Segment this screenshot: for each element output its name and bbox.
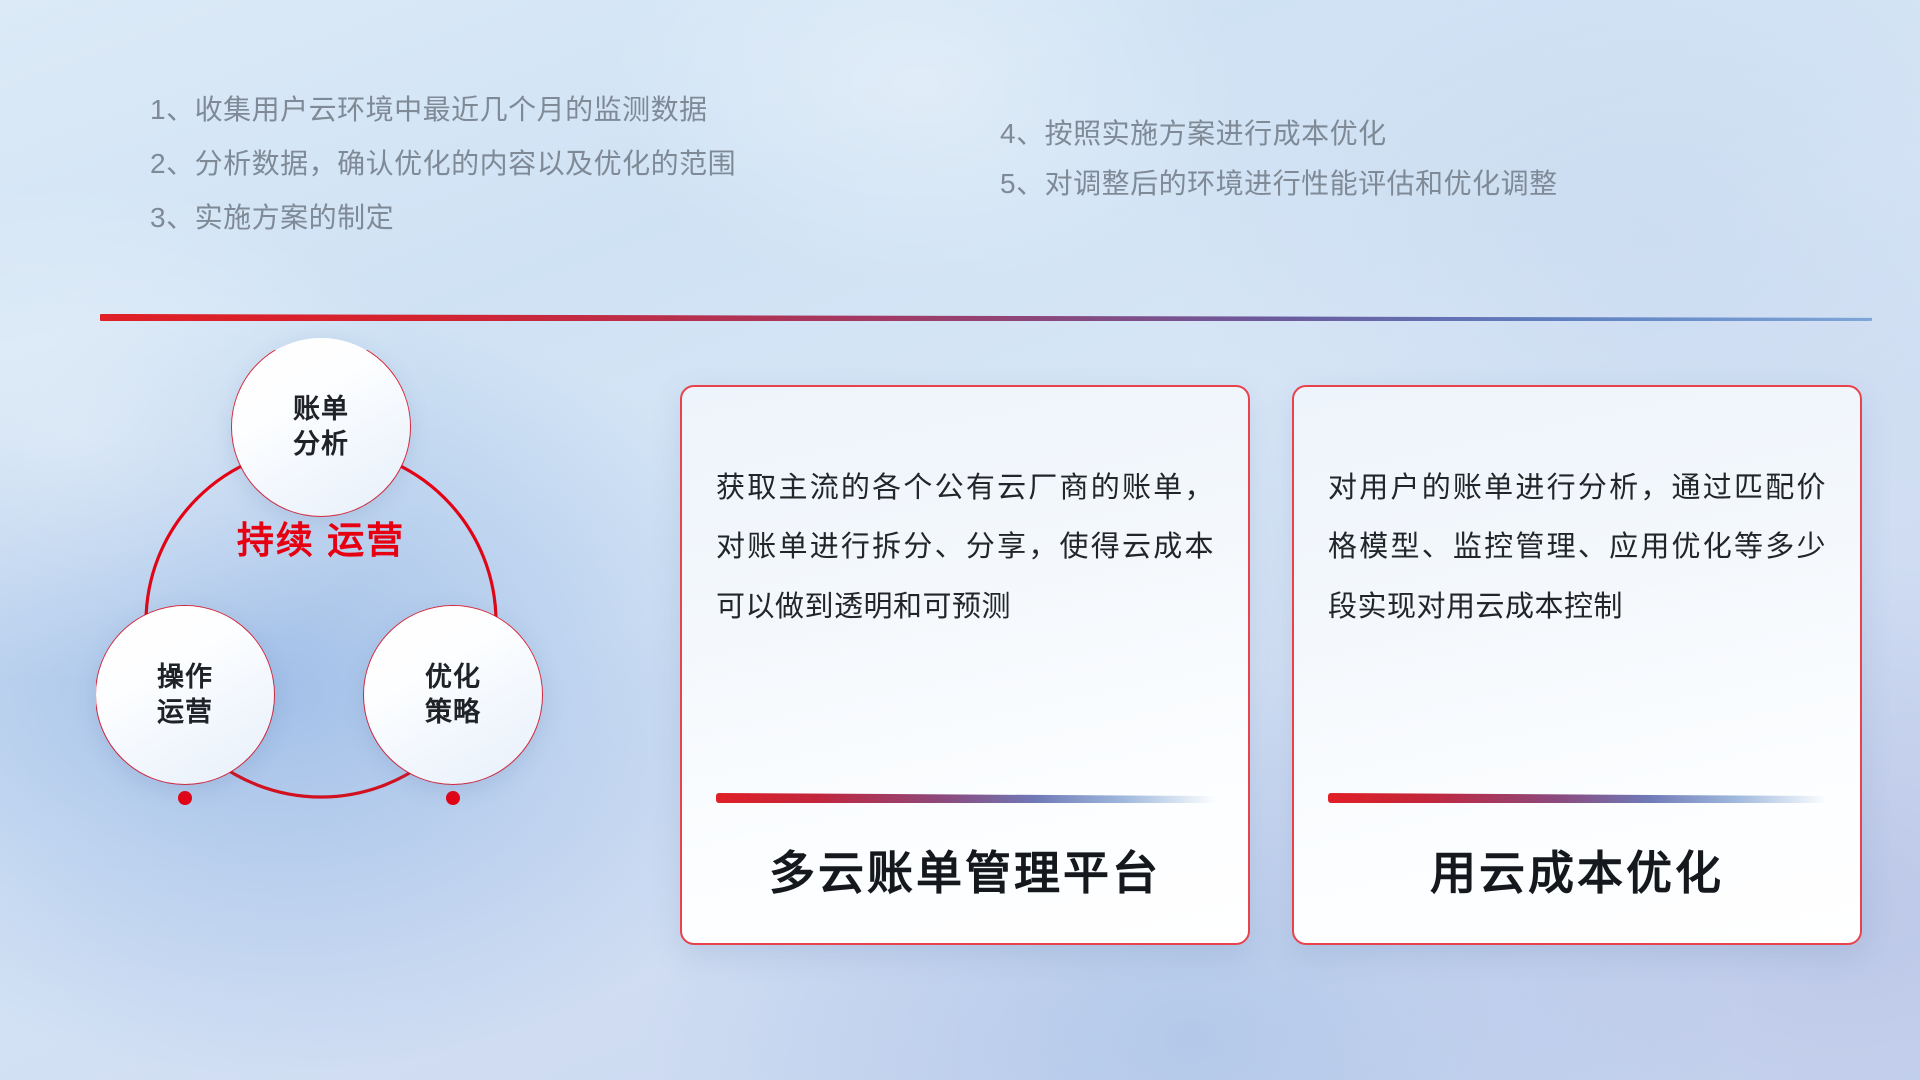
card-multi-cloud-billing-platform[interactable]: 获取主流的各个公有云厂商的账单，对账单进行拆分、分享，使得云成本可以做到透明和可… xyxy=(680,385,1250,945)
steps-right-column: 4、按照实施方案进行成本优化 5、对调整后的环境进行性能评估和优化调整 xyxy=(1000,120,1558,220)
card-2-title: 用云成本优化 xyxy=(1328,837,1826,903)
step-item-4: 4、按照实施方案进行成本优化 xyxy=(1000,120,1558,148)
step-item-3: 3、实施方案的制定 xyxy=(150,204,736,232)
venn-bubble-operations-line2: 运营 xyxy=(157,695,213,730)
card-2-body: 对用户的账单进行分析，通过匹配价格模型、监控管理、应用优化等多少段实现对用云成本… xyxy=(1328,459,1826,637)
venn-bubble-optimization-line2: 策略 xyxy=(425,695,481,730)
venn-diagram: 账单 分析 操作 运营 优化 策略 持续 运营 xyxy=(96,350,616,950)
steps-left-column: 1、收集用户云环境中最近几个月的监测数据 2、分析数据，确认优化的内容以及优化的… xyxy=(150,96,736,258)
venn-bubble-bill-analysis-line2: 分析 xyxy=(293,427,349,462)
ring-node-left xyxy=(178,791,192,805)
venn-center-label-line1: 持续 xyxy=(237,520,315,561)
section-divider xyxy=(100,314,1872,321)
card-1-rule xyxy=(716,793,1214,803)
ring-node-right xyxy=(446,791,460,805)
card-cloud-cost-optimization[interactable]: 对用户的账单进行分析，通过匹配价格模型、监控管理、应用优化等多少段实现对用云成本… xyxy=(1292,385,1862,945)
venn-center-label: 持续 运营 xyxy=(218,518,424,564)
venn-bubble-bill-analysis-line1: 账单 xyxy=(293,392,349,427)
venn-bubble-optimization-strategy[interactable]: 优化 策略 xyxy=(364,606,542,784)
venn-bubble-bill-analysis[interactable]: 账单 分析 xyxy=(232,338,410,516)
venn-bubble-optimization-line1: 优化 xyxy=(425,660,481,695)
venn-bubble-operations[interactable]: 操作 运营 xyxy=(96,606,274,784)
venn-bubble-operations-line1: 操作 xyxy=(157,660,213,695)
step-item-2: 2、分析数据，确认优化的内容以及优化的范围 xyxy=(150,150,736,178)
card-1-body: 获取主流的各个公有云厂商的账单，对账单进行拆分、分享，使得云成本可以做到透明和可… xyxy=(716,459,1214,637)
card-1-title: 多云账单管理平台 xyxy=(716,837,1214,903)
step-item-1: 1、收集用户云环境中最近几个月的监测数据 xyxy=(150,96,736,124)
step-item-5: 5、对调整后的环境进行性能评估和优化调整 xyxy=(1000,170,1558,198)
venn-center-label-line2: 运营 xyxy=(327,520,405,561)
slide-canvas: 1、收集用户云环境中最近几个月的监测数据 2、分析数据，确认优化的内容以及优化的… xyxy=(0,0,1920,1080)
card-2-rule xyxy=(1328,793,1826,803)
